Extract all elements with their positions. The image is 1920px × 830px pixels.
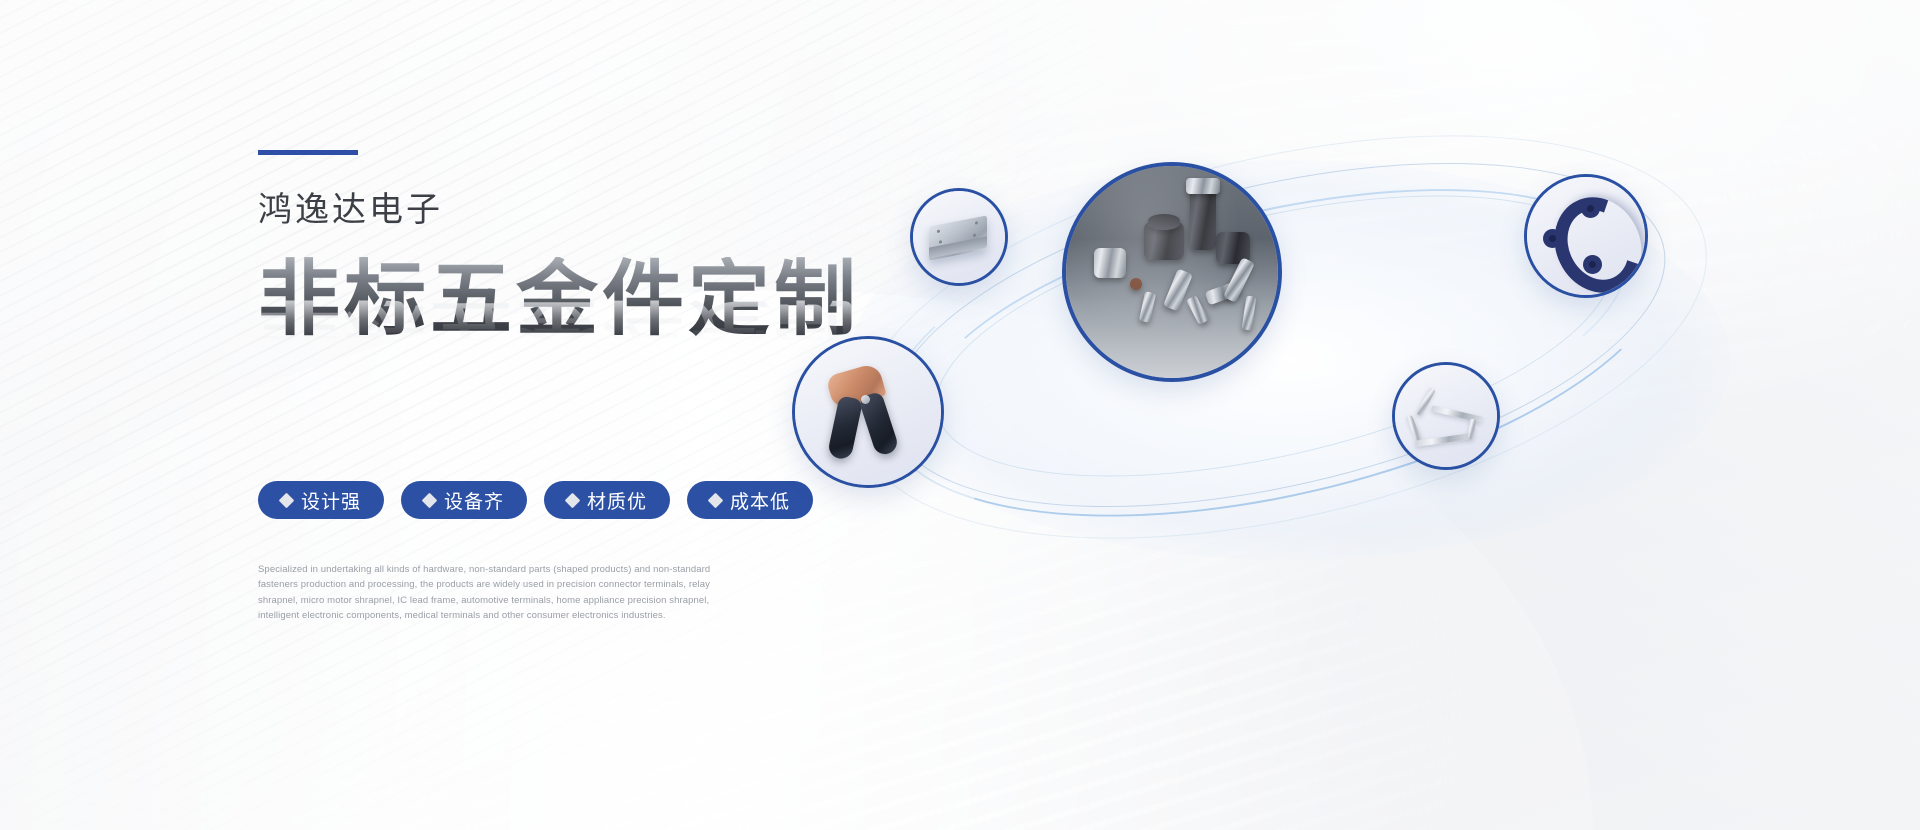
product-node-bent-terminals[interactable] [1392, 362, 1500, 470]
feature-tag-label: 成本低 [730, 487, 790, 514]
brand-name: 鸿逸达电子 [258, 193, 898, 227]
product-showcase [910, 140, 1670, 560]
diamond-icon [279, 492, 295, 508]
feature-tag-design[interactable]: 设计强 [258, 481, 384, 519]
clip-lug [1543, 229, 1562, 248]
feature-tag-equipment[interactable]: 设备齐 [401, 481, 527, 519]
product-node-shield-box[interactable] [910, 188, 1008, 286]
product-node-hero-parts[interactable] [1062, 162, 1282, 382]
accent-rule [258, 150, 358, 155]
node-highlight [1066, 166, 1278, 378]
page-title: 非标五金件定制 [258, 257, 898, 342]
company-description: Specialized in undertaking all kinds of … [258, 562, 728, 624]
feature-tag-material[interactable]: 材质优 [544, 481, 670, 519]
clamp-pivot-screw [861, 395, 870, 404]
product-node-retaining-clip[interactable] [1524, 174, 1648, 298]
feature-tag-row: 设计强 设备齐 材质优 成本低 [258, 481, 898, 519]
feature-tag-cost[interactable]: 成本低 [687, 481, 813, 519]
diamond-icon [422, 492, 438, 508]
product-node-alligator-clamp[interactable] [792, 336, 944, 488]
clip-lug [1581, 199, 1600, 218]
diamond-icon [565, 492, 581, 508]
feature-tag-label: 设备齐 [444, 487, 504, 514]
clip-lug [1583, 255, 1602, 274]
diamond-icon [708, 492, 724, 508]
hero-banner: 鸿逸达电子 非标五金件定制 非标五金件定制 设计强 设备齐 材质优 成本低 [0, 0, 1920, 830]
feature-tag-label: 设计强 [301, 487, 361, 514]
feature-tag-label: 材质优 [587, 487, 647, 514]
